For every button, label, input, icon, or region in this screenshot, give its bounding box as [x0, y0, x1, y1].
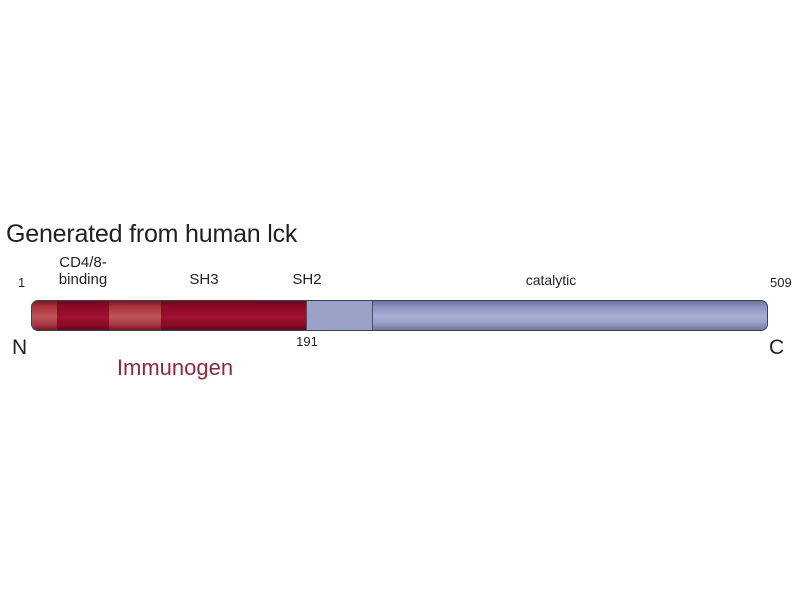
domain-label-cd48-line1: CD4/8- [59, 254, 107, 271]
divider-sh2-end [372, 301, 373, 330]
domain-label-catalytic: catalytic [526, 272, 577, 289]
domain-label-cd48-line2: binding [59, 271, 107, 288]
position-end-label: 509 [770, 275, 792, 290]
segment-n-terminal [32, 301, 57, 330]
domain-track [31, 300, 768, 331]
segment-sh2 [306, 301, 372, 330]
segment-catalytic [372, 301, 767, 330]
c-terminus-label: C [769, 336, 784, 360]
domain-label-sh2: SH2 [292, 271, 321, 288]
n-terminus-label: N [12, 336, 27, 360]
domain-label-sh3: SH3 [189, 271, 218, 288]
position-start-label: 1 [18, 275, 25, 290]
figure-title: Generated from human lck [6, 220, 297, 248]
segment-linker [109, 301, 161, 330]
segment-cd4-8-binding [57, 301, 109, 330]
segment-sh3 [161, 301, 306, 330]
domain-track-bar [31, 300, 768, 331]
immunogen-end-position-label: 191 [296, 334, 318, 349]
domain-label-cd48: CD4/8- binding [59, 254, 107, 288]
protein-domain-figure: Generated from human lck 1 CD4/8- bindin… [0, 0, 800, 600]
divider-sh2-start [306, 301, 307, 330]
immunogen-label: Immunogen [117, 355, 233, 381]
